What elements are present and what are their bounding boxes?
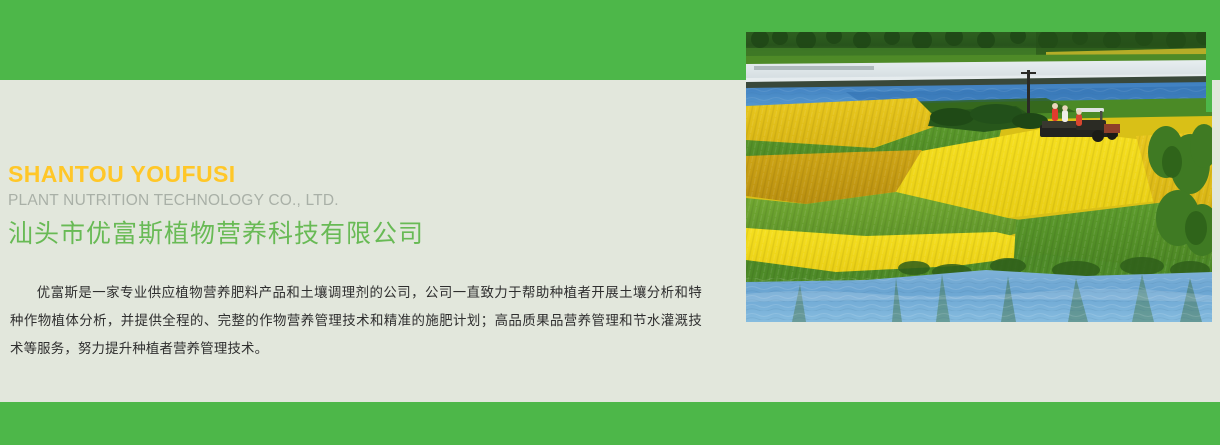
company-name-chinese: 汕头市优富斯植物营养科技有限公司 (0, 218, 730, 250)
company-name-english: SHANTOU YOUFUSI (0, 160, 730, 188)
brand-and-intro-column: SHANTOU YOUFUSI PLANT NUTRITION TECHNOLO… (0, 160, 730, 364)
page-root: SHANTOU YOUFUSI PLANT NUTRITION TECHNOLO… (0, 0, 1220, 445)
company-intro-paragraph: 优富斯是一家专业供应植物营养肥料产品和土壤调理剂的公司，公司一直致力于帮助种植者… (0, 280, 730, 364)
company-tagline-english: PLANT NUTRITION TECHNOLOGY CO., LTD. (0, 191, 730, 211)
rice-field-photo (746, 32, 1212, 322)
hero-photo-frame (746, 32, 1212, 322)
bottom-green-band (0, 402, 1220, 445)
